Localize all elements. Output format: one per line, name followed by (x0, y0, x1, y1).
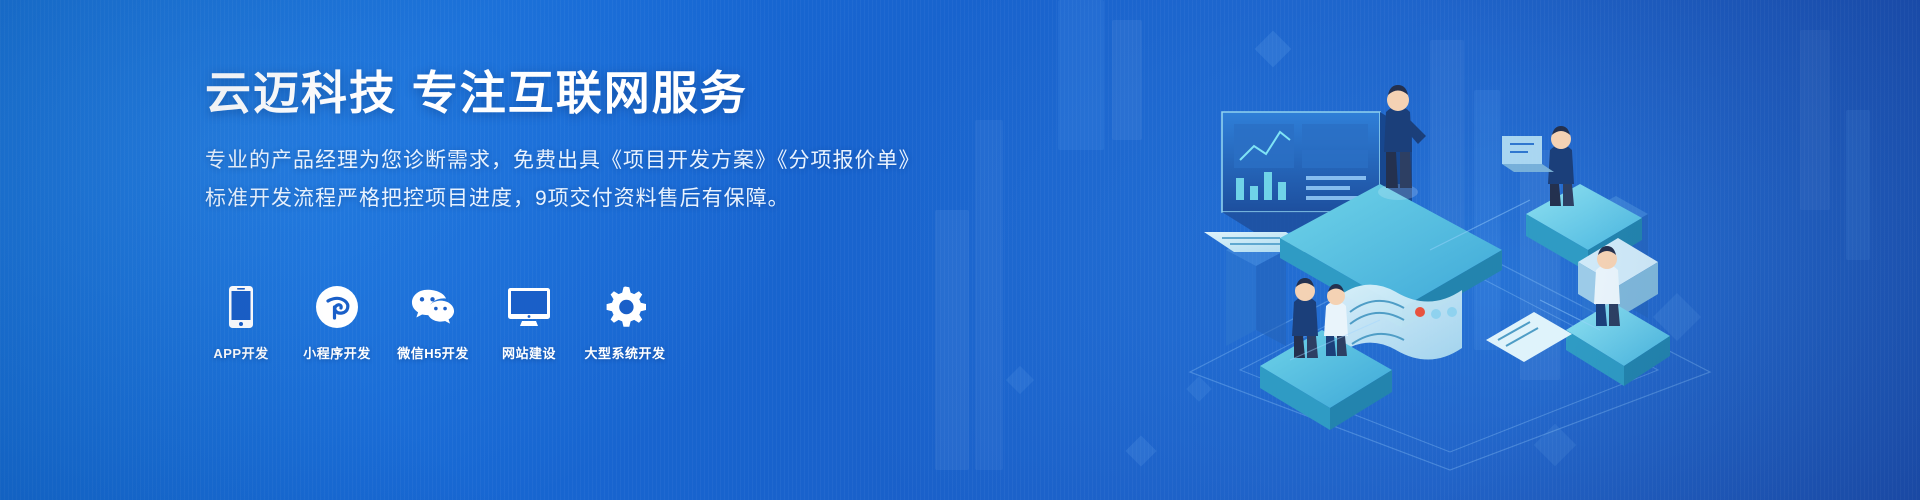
banner-content: 云迈科技 专注互联网服务 专业的产品经理为您诊断需求，免费出具《项目开发方案》《… (205, 66, 925, 217)
service-list: APP开发 小程序开发 (205, 285, 661, 362)
service-label: 小程序开发 (303, 343, 371, 362)
decor-bar (1058, 0, 1104, 150)
banner-subtitle-line-2: 标准开发流程严格把控项目进度，9项交付资料售后有保障。 (205, 180, 925, 217)
gear-icon (603, 285, 647, 329)
promo-banner: 云迈科技 专注互联网服务 专业的产品经理为您诊断需求，免费出具《项目开发方案》《… (0, 0, 1920, 500)
service-item-wechat-h5[interactable]: 微信H5开发 (397, 285, 469, 362)
service-label: APP开发 (213, 343, 268, 362)
illustration-floating-panel-2 (1502, 136, 1554, 172)
monitor-icon (507, 285, 551, 329)
banner-subtitle: 专业的产品经理为您诊断需求，免费出具《项目开发方案》《分项报价单》 标准开发流程… (205, 142, 925, 217)
service-label: 微信H5开发 (397, 343, 469, 362)
service-item-app[interactable]: APP开发 (205, 285, 277, 362)
mini-program-icon (315, 285, 359, 329)
service-label: 网站建设 (502, 343, 556, 362)
banner-headline: 云迈科技 专注互联网服务 (205, 66, 925, 120)
decor-diamond (1006, 366, 1034, 394)
isometric-illustration (1130, 0, 1770, 500)
decor-bar (1846, 110, 1870, 260)
illustration-floating-panel-1 (1486, 312, 1572, 362)
service-item-mini-program[interactable]: 小程序开发 (301, 285, 373, 362)
decor-bar (935, 210, 969, 470)
mobile-phone-icon (219, 285, 263, 329)
decor-bar (1800, 30, 1830, 210)
banner-subtitle-line-1: 专业的产品经理为您诊断需求，免费出具《项目开发方案》《分项报价单》 (205, 142, 925, 179)
service-item-large-system[interactable]: 大型系统开发 (589, 285, 661, 362)
service-item-website[interactable]: 网站建设 (493, 285, 565, 362)
service-label: 大型系统开发 (585, 343, 666, 362)
decor-bar (975, 120, 1003, 470)
wechat-icon (411, 285, 455, 329)
